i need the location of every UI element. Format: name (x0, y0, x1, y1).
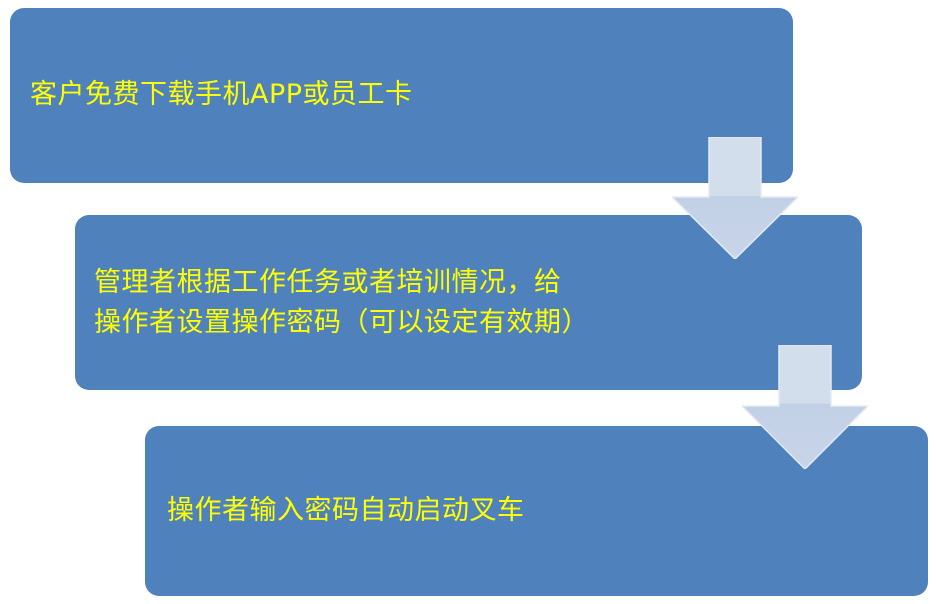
process-box-label-step-1: 客户免费下载手机APP或员工卡 (30, 76, 769, 114)
process-box-label-step-2: 管理者根据工作任务或者培训情况，给 操作者设置操作密码（可以设定有效期） (94, 263, 838, 343)
arrow-down-icon (742, 345, 868, 469)
flowchart-canvas: 客户免费下载手机APP或员工卡 管理者根据工作任务或者培训情况，给 操作者设置操… (0, 0, 936, 604)
arrow-down-icon (672, 137, 798, 259)
process-box-label-step-3: 操作者输入密码自动启动叉车 (167, 492, 904, 530)
